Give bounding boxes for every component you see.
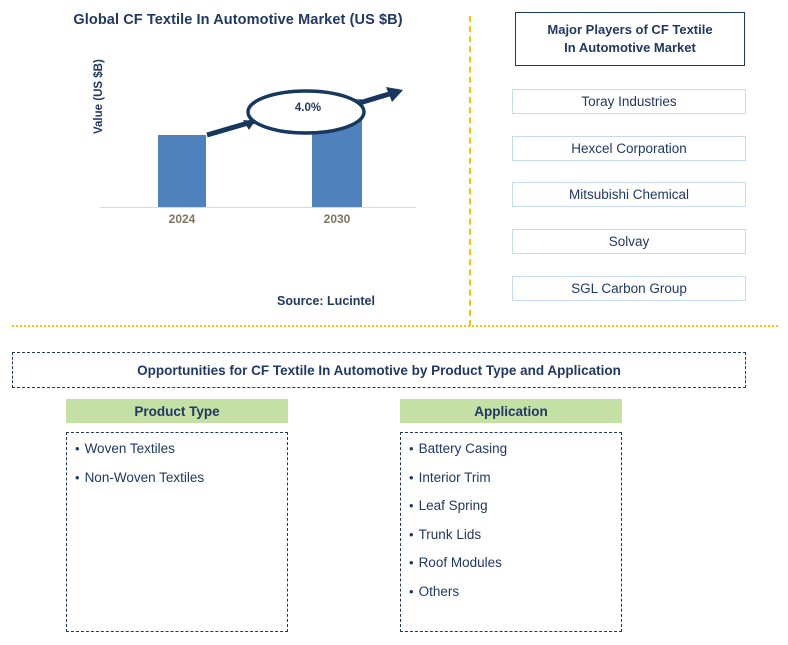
horizontal-divider	[12, 325, 778, 327]
list-item: • Others	[409, 585, 621, 599]
column-body-product-type: • Woven Textiles • Non-Woven Textiles	[66, 432, 288, 632]
chart-title: Global CF Textile In Automotive Market (…	[20, 12, 456, 28]
list-item-label: Non-Woven Textiles	[85, 471, 205, 485]
bullet-icon: •	[409, 528, 414, 541]
bullet-icon: •	[409, 442, 414, 455]
bullet-icon: •	[409, 499, 414, 512]
cagr-arrow-icon	[203, 85, 413, 141]
major-players-header-line2: In Automotive Market	[564, 40, 696, 55]
player-label: Mitsubishi Chemical	[569, 187, 689, 202]
column-body-application: • Battery Casing • Interior Trim • Leaf …	[400, 432, 622, 632]
list-item-label: Battery Casing	[419, 442, 508, 456]
column-header-label: Application	[474, 404, 548, 419]
bullet-icon: •	[75, 442, 80, 455]
opportunities-banner: Opportunities for CF Textile In Automoti…	[12, 352, 746, 388]
major-players-header: Major Players of CF Textile In Automotiv…	[515, 12, 745, 66]
player-item-3[interactable]: Solvay	[512, 229, 746, 254]
list-item: • Roof Modules	[409, 556, 621, 570]
bullet-icon: •	[409, 556, 414, 569]
list-item: • Leaf Spring	[409, 499, 621, 513]
list-item: • Interior Trim	[409, 471, 621, 485]
x-tick-label-2024: 2024	[147, 212, 217, 226]
list-item: • Trunk Lids	[409, 528, 621, 542]
column-header-application: Application	[400, 399, 622, 423]
list-item-label: Roof Modules	[419, 556, 502, 570]
player-item-4[interactable]: SGL Carbon Group	[512, 276, 746, 301]
player-label: Hexcel Corporation	[571, 141, 687, 156]
player-item-0[interactable]: Toray Industries	[512, 89, 746, 114]
vertical-divider	[469, 16, 471, 326]
player-label: Toray Industries	[581, 94, 676, 109]
list-item: • Non-Woven Textiles	[75, 471, 287, 485]
x-axis-line	[100, 207, 416, 208]
list-item: • Woven Textiles	[75, 442, 287, 456]
bullet-icon: •	[409, 471, 414, 484]
list-item: • Battery Casing	[409, 442, 621, 456]
column-header-label: Product Type	[134, 404, 219, 419]
list-item-label: Woven Textiles	[85, 442, 175, 456]
bar-2024	[158, 135, 206, 207]
major-players-header-line1: Major Players of CF Textile	[547, 22, 712, 37]
list-item-label: Trunk Lids	[419, 528, 482, 542]
player-item-1[interactable]: Hexcel Corporation	[512, 136, 746, 161]
infographic-canvas: Global CF Textile In Automotive Market (…	[0, 0, 788, 645]
cagr-callout: 4.0%	[203, 85, 413, 141]
bullet-icon: •	[409, 585, 414, 598]
x-tick-label-2030: 2030	[302, 212, 372, 226]
opportunities-banner-label: Opportunities for CF Textile In Automoti…	[137, 363, 621, 378]
list-item-label: Others	[419, 585, 460, 599]
bar-chart: Value (US $B) 2024 2030 4.0%	[95, 88, 425, 218]
y-axis-label: Value (US $B)	[93, 34, 111, 134]
player-label: SGL Carbon Group	[571, 281, 687, 296]
list-item-label: Interior Trim	[419, 471, 491, 485]
column-header-product-type: Product Type	[66, 399, 288, 423]
list-item-label: Leaf Spring	[419, 499, 488, 513]
player-label: Solvay	[609, 234, 650, 249]
player-item-2[interactable]: Mitsubishi Chemical	[512, 182, 746, 207]
chart-source: Source: Lucintel	[196, 294, 456, 308]
bullet-icon: •	[75, 471, 80, 484]
